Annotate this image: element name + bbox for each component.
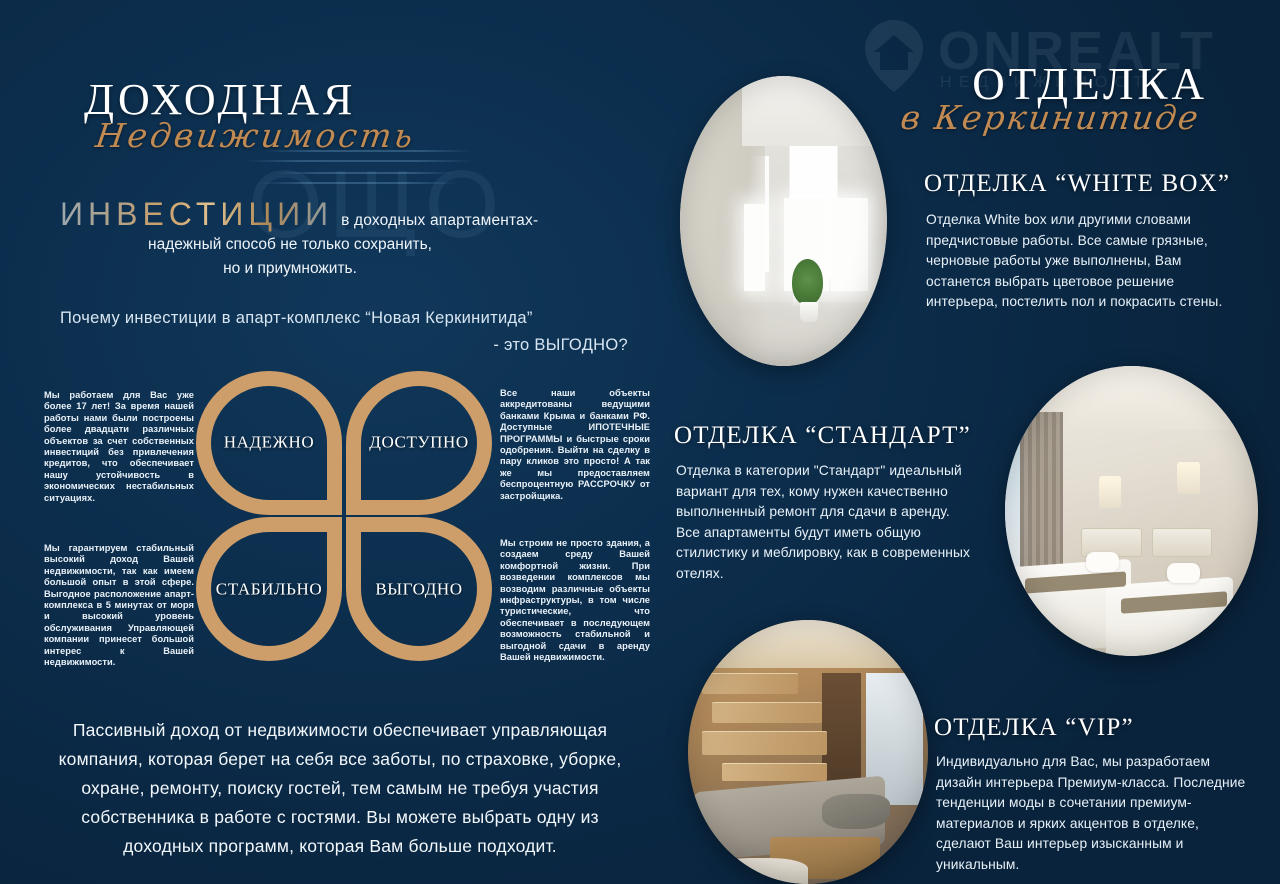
photo-rug bbox=[712, 858, 808, 884]
investment-word: ИНВЕСТИЦИИ bbox=[60, 196, 333, 233]
section-body-vip: Индивидуально для Вас, мы разработаем ди… bbox=[936, 752, 1246, 875]
section-title-white-box: ОТДЕЛКА “WHITE BOX” bbox=[924, 170, 1230, 198]
investment-tagline: ИНВЕСТИЦИИв доходных апартаментах- надеж… bbox=[60, 196, 620, 281]
photo-wall-sconce-right bbox=[1177, 462, 1200, 494]
right-headline-script: в Керкинитиде bbox=[898, 98, 1202, 137]
photo-window-right-pane bbox=[831, 198, 868, 291]
petal-label-dostupno: ДОСТУПНО bbox=[361, 433, 477, 453]
benefit-text-bottom-left: Мы гарантируем стабильный высокий доход … bbox=[44, 543, 194, 668]
section-body-white-box: Отделка White box или другими словами пр… bbox=[926, 210, 1226, 313]
photo-white-box-room bbox=[680, 76, 887, 366]
petal-nadezhno: НАДЕЖНО bbox=[196, 371, 342, 515]
left-panel: ДОХОДНАЯ Недвижимость ИНВЕСТИЦИИв доходн… bbox=[0, 0, 672, 884]
investment-tail: в доходных апартаментах- bbox=[333, 212, 538, 230]
photo-ceiling bbox=[688, 620, 928, 668]
petal-label-stabilno: СТАБИЛЬНО bbox=[211, 579, 327, 599]
why-invest-line-2: - это ВЫГОДНО? bbox=[60, 332, 640, 359]
petal-stabilno: СТАБИЛЬНО bbox=[196, 517, 342, 661]
photo-plant-pot bbox=[800, 302, 818, 322]
investment-line-2: надежный способ не только сохранить, bbox=[60, 233, 620, 257]
photo-wood-panel-1 bbox=[702, 673, 798, 694]
section-title-standard: ОТДЕЛКА “СТАНДАРТ” bbox=[674, 422, 971, 450]
photo-curtain bbox=[1020, 412, 1063, 586]
benefit-text-top-right: Все наши объекты аккредитованы ведущими … bbox=[500, 388, 650, 502]
section-body-standard: Отделка в категории "Стандарт" идеальный… bbox=[676, 461, 976, 584]
photo-wood-panel-3 bbox=[702, 731, 827, 755]
photo-pillow-left bbox=[1086, 552, 1119, 572]
petal-label-vygodno: ВЫГОДНО bbox=[361, 579, 477, 599]
passive-income-paragraph: Пассивный доход от недвижимости обеспечи… bbox=[40, 716, 640, 861]
photo-throw-pillow bbox=[822, 794, 889, 828]
photo-ceiling bbox=[742, 76, 887, 146]
petal-vygodno: ВЫГОДНО bbox=[346, 517, 492, 661]
photo-standard-hotel-room bbox=[1005, 366, 1258, 656]
why-invest-question: Почему инвестиции в апарт-комплекс “Нова… bbox=[60, 305, 640, 359]
photo-headboard-right bbox=[1152, 528, 1213, 557]
photo-floor bbox=[680, 302, 887, 366]
why-invest-line-1: Почему инвестиции в апарт-комплекс “Нова… bbox=[60, 305, 640, 332]
petal-dostupno: ДОСТУПНО bbox=[346, 371, 492, 515]
photo-vip-bedroom bbox=[688, 620, 928, 884]
photo-wall-sconce-left bbox=[1099, 476, 1122, 508]
right-panel: ОТДЕЛКА в Керкинитиде ОТДЕЛКА “WHITE BOX… bbox=[672, 0, 1280, 884]
photo-bed-right bbox=[1106, 576, 1233, 656]
photo-window-side bbox=[744, 204, 765, 291]
section-title-vip: ОТДЕЛКА “VIP” bbox=[934, 714, 1134, 742]
benefit-text-bottom-right: Мы строим не просто здания, а создаем ср… bbox=[500, 538, 650, 663]
four-petal-diagram: НАДЕЖНО ДОСТУПНО СТАБИЛЬНО ВЫГОДНО bbox=[196, 371, 492, 661]
left-headline-script: Недвижимость bbox=[93, 116, 418, 155]
photo-wood-panel-2 bbox=[712, 702, 822, 723]
petal-label-nadezhno: НАДЕЖНО bbox=[211, 433, 327, 453]
photo-pillow-right bbox=[1167, 563, 1200, 583]
photo-wood-panel-4 bbox=[722, 763, 828, 781]
investment-line-3: но и приумножить. bbox=[60, 257, 620, 281]
benefit-text-top-left: Мы работаем для Вас уже более 17 лет! За… bbox=[44, 390, 194, 504]
photo-potted-plant bbox=[792, 259, 823, 305]
